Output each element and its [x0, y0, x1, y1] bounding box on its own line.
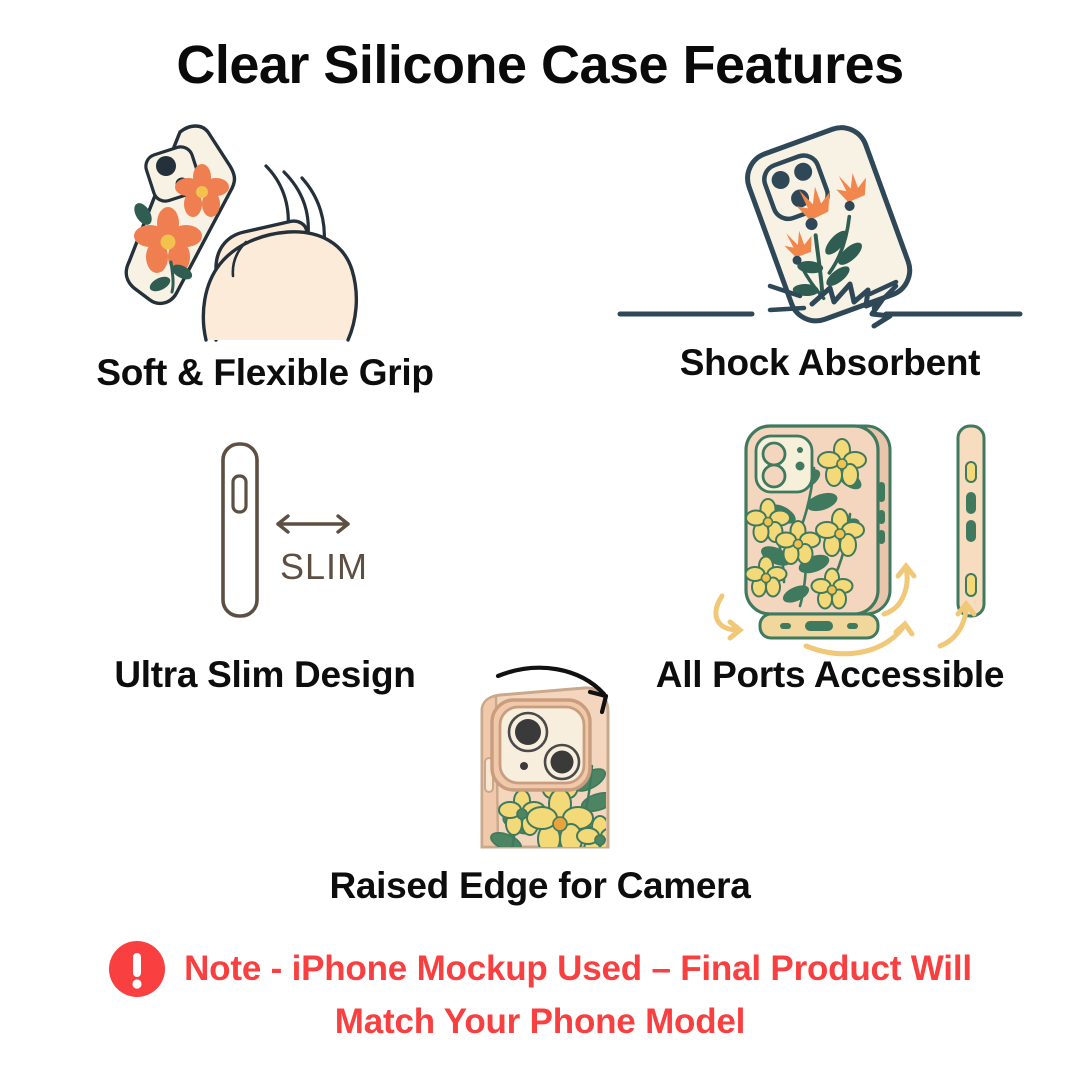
- phone-drop-impact-icon: [600, 118, 1060, 336]
- note-text-line1: Note - iPhone Mockup Used – Final Produc…: [184, 947, 972, 992]
- feature-raised-edge-camera: Raised Edge for Camera: [260, 662, 820, 907]
- feature-shock-absorbent: Shock Absorbent: [600, 118, 1060, 384]
- feature-label: Soft & Flexible Grip: [30, 352, 500, 394]
- note-text-line2: Match Your Phone Model: [335, 1000, 745, 1045]
- feature-label: Raised Edge for Camera: [260, 865, 820, 907]
- feature-ultra-slim-design: SLIM Ultra Slim Design: [40, 424, 490, 696]
- phone-ports-cutouts-icon: [600, 418, 1060, 640]
- page-title: Clear Silicone Case Features: [0, 34, 1080, 96]
- feature-soft-flexible-grip: Soft & Flexible Grip: [30, 118, 500, 394]
- exclamation-circle-icon: [108, 940, 166, 998]
- infographic-page: Clear Silicone Case Features: [0, 0, 1080, 1080]
- feature-all-ports-accessible: All Ports Accessible: [600, 418, 1060, 696]
- phone-side-profile-slim-icon: SLIM: [40, 424, 490, 632]
- note-disclaimer: Note - iPhone Mockup Used – Final Produc…: [0, 940, 1080, 1045]
- feature-label: Shock Absorbent: [600, 342, 1060, 384]
- hand-flexing-phone-case-icon: [30, 118, 500, 340]
- slim-measure-label: SLIM: [280, 546, 368, 587]
- phone-raised-camera-edge-icon: [260, 662, 820, 847]
